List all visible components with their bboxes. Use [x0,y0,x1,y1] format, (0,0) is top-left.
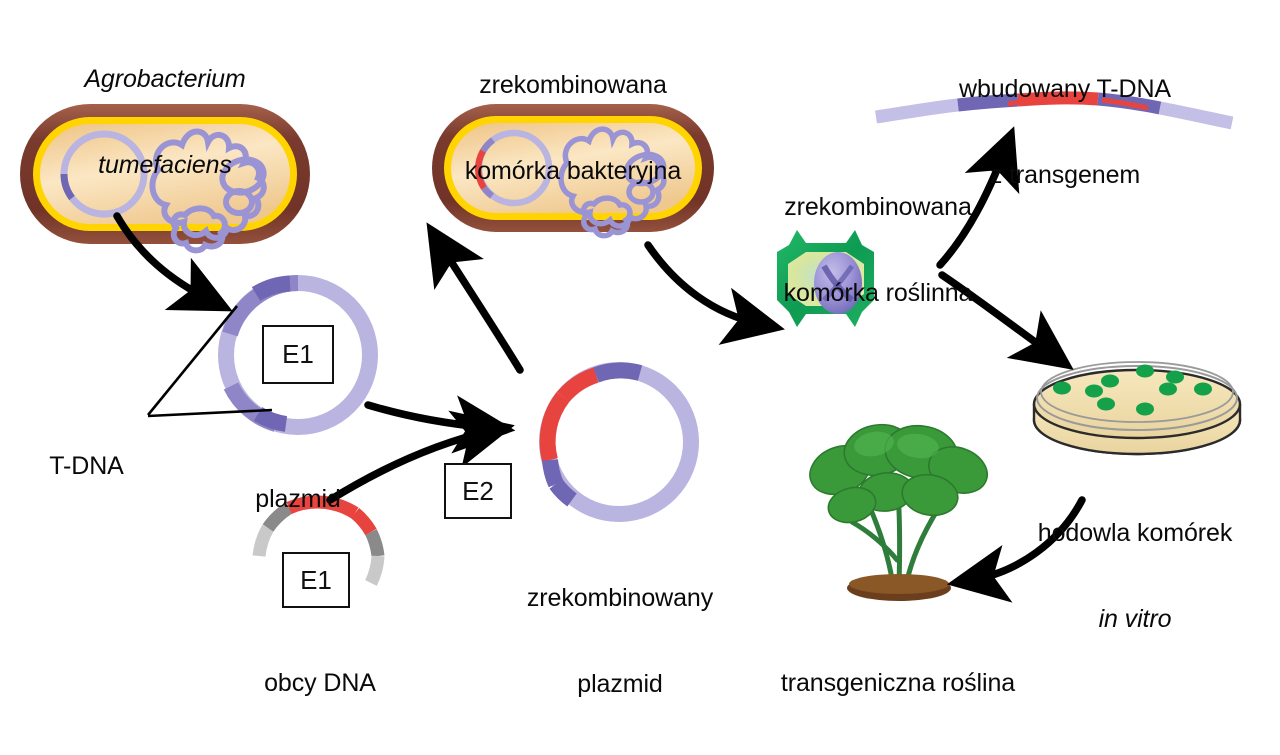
enzyme-box-e1-foreign-dna: E1 [282,552,350,608]
enzyme-box-e1-plasmid: E1 [262,325,334,384]
foreign-dna-label: obcy DNA [200,612,440,755]
tdna-label: T-DNA [24,395,149,538]
petri-dish [1034,362,1240,454]
transgenic-plant [803,419,994,601]
recombinant-plasmid-label: zrekombinowany plazmid [495,527,745,755]
recombinant-plasmid-diagram [547,370,691,514]
recombinant-plant-cell-label: zrekombinowana komórka roślinna [733,136,1023,364]
tdna-leader-lines [148,306,272,416]
enzyme-label: E2 [462,476,494,507]
diagram-canvas: Agrobacterium tumefaciens zrekombinowana… [0,0,1280,685]
transgenic-plant-label: transgeniczna roślina [728,612,1068,755]
arrow-plasmid-to-recombinant [368,405,490,428]
recombinant-bacterium-label: zrekombinowana komórka bakteryjna [423,14,723,242]
enzyme-label: E1 [282,339,314,370]
agrobacterium-label: Agrobacterium tumefaciens [45,8,285,236]
plasmid-label: plazmid [228,428,368,571]
arrow-recombinant-plasmid-to-bacterium [440,244,520,370]
enzyme-box-e2: E2 [444,463,512,519]
enzyme-label: E1 [300,565,332,596]
